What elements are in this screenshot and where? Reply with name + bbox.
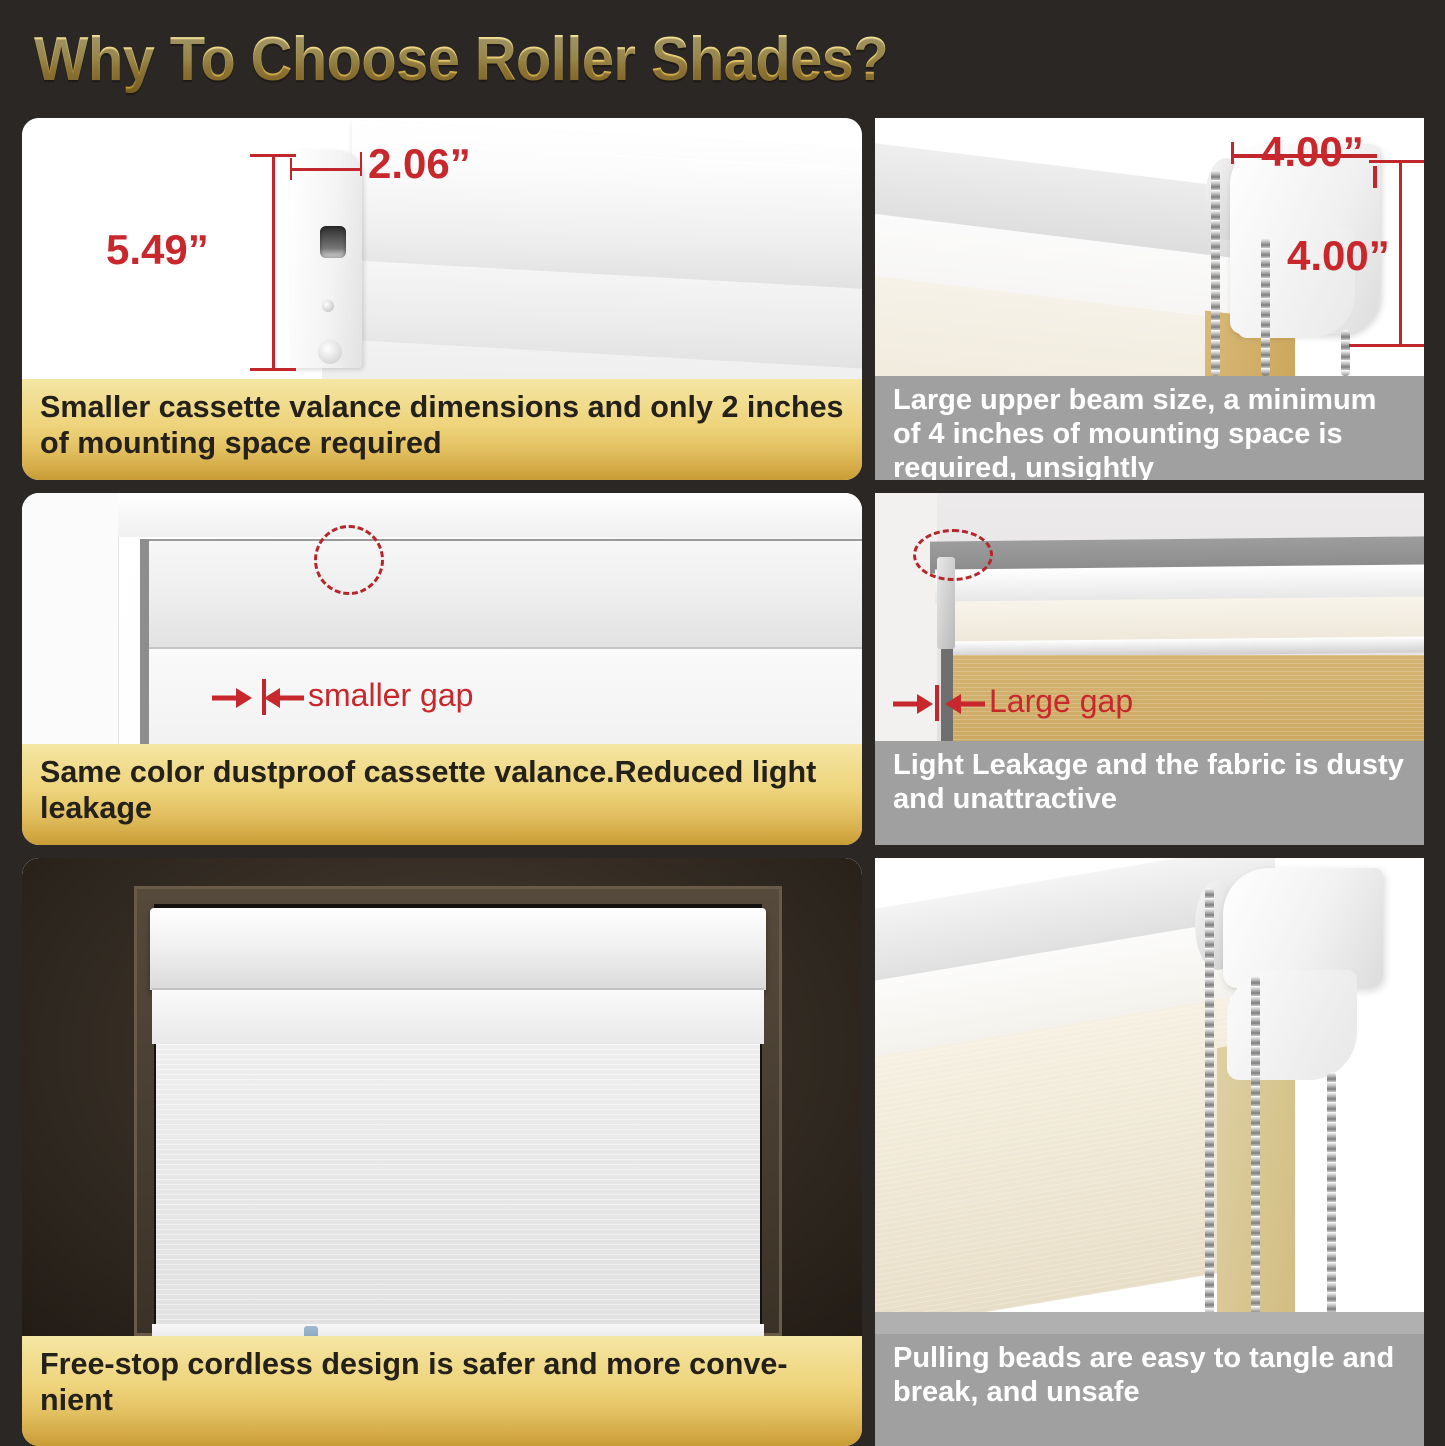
panel-pulling-beads: Pulling beads are easy to tangle and bre…	[875, 858, 1424, 1446]
floor-strip	[875, 1312, 1424, 1334]
panel-free-stop-cordless: Free-stop cordless design is safer and m…	[22, 858, 862, 1446]
valance-lower-lip	[152, 988, 764, 1044]
dim-line-bottom	[250, 368, 296, 371]
bead-chain-1	[1211, 170, 1220, 376]
comparison-row-2: smaller gap Same color dustproof cassett…	[22, 493, 1424, 845]
dim-line-vertical	[1399, 160, 1402, 346]
bead-chain-1	[1205, 888, 1214, 1328]
roller-shade-fabric	[156, 1044, 760, 1336]
product-photo-large-gap: Large gap	[875, 493, 1424, 741]
comparison-grid: 2.06” 5.49” Smaller cassette valance dim…	[22, 118, 1424, 1446]
caption-free-stop-cordless: Free-stop cordless design is safer and m…	[22, 1336, 862, 1446]
bead-chain-2	[1261, 238, 1270, 376]
dimension-label-width: 2.06”	[368, 140, 471, 188]
caption-light-leakage: Light Leakage and the fabric is dusty an…	[875, 741, 1424, 845]
panel-large-upper-beam: 4.00” 4.00” Large upper beam size, a min…	[875, 118, 1424, 480]
bottom-rail	[152, 1324, 764, 1336]
gap-arrows-icon	[212, 683, 304, 713]
panel-dustproof-cassette-valance: smaller gap Same color dustproof cassett…	[22, 493, 862, 845]
screw-lower	[318, 340, 342, 364]
gap-arrows-icon	[893, 689, 985, 719]
bead-chain-3	[1341, 330, 1350, 376]
page-title: Why To Choose Roller Shades?	[34, 24, 888, 95]
dim-line-height	[272, 154, 275, 370]
gap-callout-label: Large gap	[989, 683, 1133, 720]
gap-edge-strip	[140, 539, 149, 744]
dim-tick-h-right	[1373, 166, 1377, 188]
gap-callout-label: smaller gap	[308, 677, 473, 714]
screw-upper	[322, 300, 334, 312]
bead-chain-3	[1327, 1072, 1336, 1328]
valance-end-cap	[290, 150, 362, 368]
window-frame-top	[118, 493, 862, 537]
gap-marker-line	[935, 685, 939, 721]
product-photo-cassette-valance: 2.06” 5.49”	[22, 118, 862, 379]
dimension-label-vertical: 4.00”	[1287, 232, 1390, 280]
product-photo-large-beam: 4.00” 4.00”	[875, 118, 1424, 376]
header: Why To Choose Roller Shades?	[0, 0, 1445, 118]
bead-chain-2	[1251, 976, 1260, 1328]
mounting-bracket-lower	[1227, 970, 1357, 1080]
product-photo-smaller-gap: smaller gap	[22, 493, 862, 744]
comparison-row-3: Free-stop cordless design is safer and m…	[22, 858, 1424, 1446]
panel-light-leakage: Large gap Light Leakage and the fabric i…	[875, 493, 1424, 845]
caption-large-upper-beam: Large upper beam size, a minimum of 4 in…	[875, 376, 1424, 480]
caption-dustproof-cassette-valance: Same color dustproof cassette valance.Re…	[22, 744, 862, 845]
dim-tick-right	[360, 152, 362, 176]
highlight-circle-icon	[913, 529, 993, 581]
highlight-circle-icon	[314, 525, 384, 595]
dimension-label-horizontal: 4.00”	[1261, 128, 1364, 176]
dim-line-v-bottom	[1349, 344, 1424, 347]
pull-handle	[304, 1326, 318, 1336]
product-photo-bead-chain	[875, 858, 1424, 1334]
caption-cassette-valance-dimensions: Smaller cassette valance dimensions and …	[22, 379, 862, 480]
cassette-valance	[150, 908, 766, 990]
shade-section-upper	[148, 539, 862, 647]
dim-line-width	[290, 168, 362, 171]
dim-line-v-top	[1369, 160, 1424, 163]
comparison-row-1: 2.06” 5.49” Smaller cassette valance dim…	[22, 118, 1424, 480]
caption-pulling-beads: Pulling beads are easy to tangle and bre…	[875, 1334, 1424, 1446]
dim-tick-h-left	[1231, 142, 1234, 164]
gap-marker-line	[262, 679, 266, 715]
dimension-label-height: 5.49”	[106, 226, 209, 274]
panel-cassette-valance-dimensions: 2.06” 5.49” Smaller cassette valance dim…	[22, 118, 862, 480]
room-photo-cordless-shade	[22, 858, 862, 1336]
